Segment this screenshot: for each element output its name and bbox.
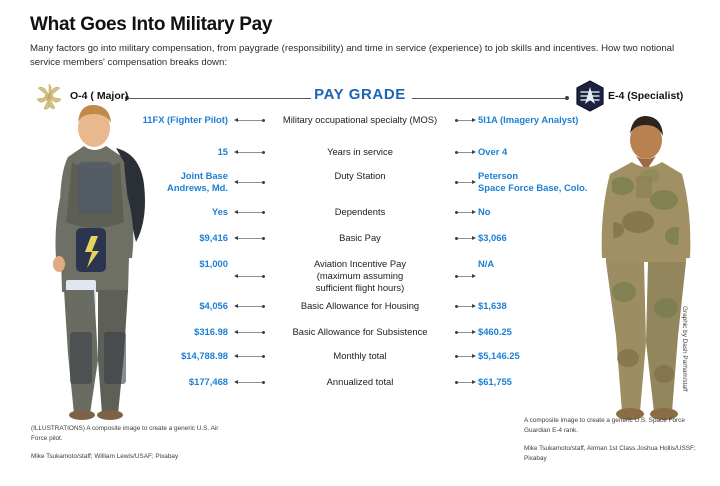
comparison-row: $14,788.98Monthly total$5,146.25 — [0, 350, 720, 368]
row-dot-right — [455, 355, 458, 358]
row-value-right: $460.25 — [478, 326, 608, 338]
row-arrow-right — [472, 150, 476, 154]
paygrade-right-rule — [412, 98, 567, 99]
row-arrow-left — [234, 150, 238, 154]
row-value-right: N/A — [478, 258, 608, 270]
row-value-right: No — [478, 206, 608, 218]
caption-left-text: (ILLUSTRATIONS) A composite image to cre… — [31, 424, 236, 443]
graphic-credit: Graphic by Dash Parham/staff — [681, 306, 688, 391]
row-arrow-left — [234, 330, 238, 334]
row-dot-right — [455, 305, 458, 308]
row-value-right: 5I1A (Imagery Analyst) — [478, 114, 608, 126]
row-dot-right — [455, 331, 458, 334]
row-dot-left — [262, 331, 265, 334]
row-value-left: $177,468 — [120, 376, 228, 388]
comparison-row: 11FX (Fighter Pilot)Military occupationa… — [0, 114, 720, 132]
row-arrow-right — [472, 380, 476, 384]
paygrade-right-dot — [565, 96, 569, 100]
row-label: Annualized total — [268, 376, 452, 388]
row-dot-right — [455, 211, 458, 214]
row-dot-left — [262, 237, 265, 240]
comparison-row: $4,056Basic Allowance for Housing$1,638 — [0, 300, 720, 318]
row-arrow-left — [234, 180, 238, 184]
row-value-right: PetersonSpace Force Base, Colo. — [478, 170, 608, 194]
row-connector-left — [238, 382, 264, 383]
row-connector-left — [238, 120, 264, 121]
comparison-row: $177,468Annualized total$61,755 — [0, 376, 720, 394]
row-dot-left — [262, 181, 265, 184]
row-connector-left — [238, 238, 264, 239]
row-label: Years in service — [268, 146, 452, 158]
row-arrow-left — [234, 118, 238, 122]
row-value-left: Joint BaseAndrews, Md. — [120, 170, 228, 194]
row-arrow-left — [234, 354, 238, 358]
row-value-right: Over 4 — [478, 146, 608, 158]
row-value-left: $4,056 — [120, 300, 228, 312]
page-title: What Goes Into Military Pay — [30, 14, 272, 36]
row-arrow-right — [472, 180, 476, 184]
row-arrow-right — [472, 210, 476, 214]
comparison-row: $1,000Aviation Incentive Pay(maximum ass… — [0, 258, 720, 300]
row-arrow-right — [472, 304, 476, 308]
row-label: Military occupational specialty (MOS) — [268, 114, 452, 126]
row-arrow-left — [234, 236, 238, 240]
comparison-row: $316.98Basic Allowance for Subsistence$4… — [0, 326, 720, 344]
row-connector-left — [238, 306, 264, 307]
row-dot-left — [262, 119, 265, 122]
row-arrow-right — [472, 274, 476, 278]
row-arrow-right — [472, 236, 476, 240]
row-dot-left — [262, 305, 265, 308]
row-dot-left — [262, 275, 265, 278]
row-value-right: $5,146.25 — [478, 350, 608, 362]
caption-right: A composite image to create a generic U.… — [524, 416, 704, 463]
row-connector-left — [238, 276, 264, 277]
paygrade-left-label: O-4 ( Major) — [70, 90, 128, 102]
row-label: Dependents — [268, 206, 452, 218]
row-dot-left — [262, 381, 265, 384]
row-arrow-left — [234, 210, 238, 214]
comparison-row: 15Years in serviceOver 4 — [0, 146, 720, 164]
row-value-left: $316.98 — [120, 326, 228, 338]
row-dot-left — [262, 151, 265, 154]
row-dot-right — [455, 237, 458, 240]
caption-left-credit: Mike Tsukamoto/staff; William Lewis/USAF… — [31, 452, 236, 462]
row-value-left: Yes — [120, 206, 228, 218]
infographic-canvas: What Goes Into Military Pay Many factors… — [0, 0, 720, 486]
row-dot-right — [455, 381, 458, 384]
row-arrow-left — [234, 304, 238, 308]
caption-right-credit: Mike Tsukamoto/staff, Airman 1st Class J… — [524, 444, 704, 463]
space-force-hex-insignia-icon — [575, 80, 605, 112]
row-arrow-left — [234, 380, 238, 384]
row-connector-left — [238, 212, 264, 213]
row-label: Basic Allowance for Housing — [268, 300, 452, 312]
comparison-row: Joint BaseAndrews, Md.Duty StationPeters… — [0, 170, 720, 200]
row-label: Aviation Incentive Pay(maximum assumings… — [268, 258, 452, 295]
row-label: Duty Station — [268, 170, 452, 182]
row-dot-right — [455, 151, 458, 154]
caption-right-text: A composite image to create a generic U.… — [524, 416, 704, 435]
row-connector-left — [238, 182, 264, 183]
row-value-right: $3,066 — [478, 232, 608, 244]
row-value-left: 11FX (Fighter Pilot) — [120, 114, 228, 126]
row-connector-left — [238, 332, 264, 333]
deck-text: Many factors go into military compensati… — [30, 42, 690, 69]
row-connector-left — [238, 152, 264, 153]
row-dot-left — [262, 211, 265, 214]
row-value-left: $14,788.98 — [120, 350, 228, 362]
row-label: Monthly total — [268, 350, 452, 362]
row-value-right: $1,638 — [478, 300, 608, 312]
row-arrow-right — [472, 354, 476, 358]
row-arrow-right — [472, 118, 476, 122]
row-value-left: $1,000 — [120, 258, 228, 270]
row-value-right: $61,755 — [478, 376, 608, 388]
row-value-left: $9,416 — [120, 232, 228, 244]
row-dot-right — [455, 181, 458, 184]
row-label: Basic Allowance for Subsistence — [268, 326, 452, 338]
comparison-row: $9,416Basic Pay$3,066 — [0, 232, 720, 250]
row-dot-left — [262, 355, 265, 358]
row-arrow-left — [234, 274, 238, 278]
row-label: Basic Pay — [268, 232, 452, 244]
row-value-left: 15 — [120, 146, 228, 158]
row-dot-right — [455, 275, 458, 278]
comparison-row: YesDependentsNo — [0, 206, 720, 224]
paygrade-right-label: E-4 (Specialist) — [608, 90, 683, 102]
row-connector-left — [238, 356, 264, 357]
caption-left: (ILLUSTRATIONS) A composite image to cre… — [31, 424, 236, 462]
row-arrow-right — [472, 330, 476, 334]
row-dot-right — [455, 119, 458, 122]
